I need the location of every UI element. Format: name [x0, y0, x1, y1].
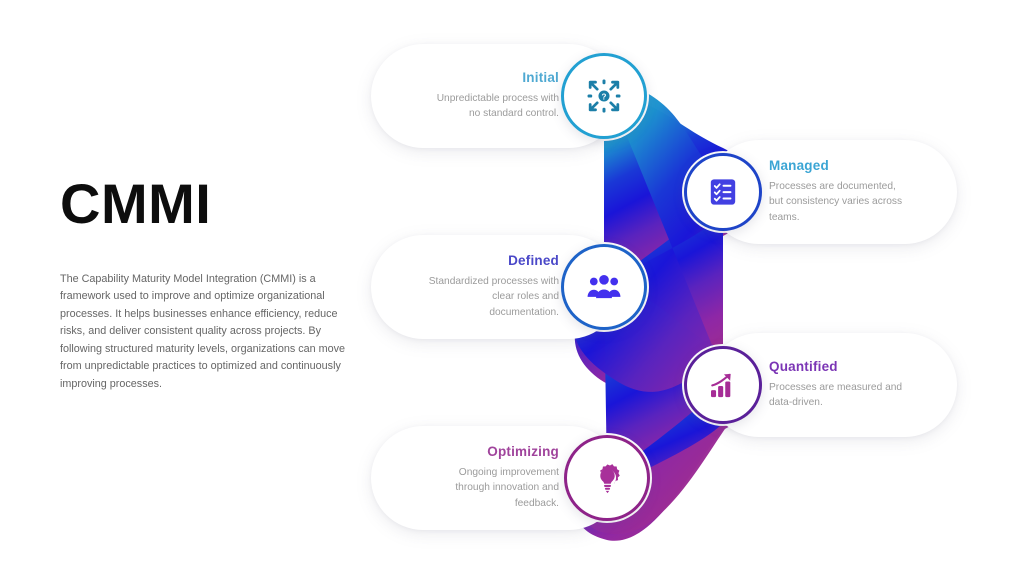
stage-description-quantified: Processes are measured and data-driven. [769, 380, 904, 411]
intro-description: The Capability Maturity Model Integratio… [60, 271, 352, 393]
stage-node-quantified[interactable] [684, 346, 762, 424]
slide-canvas: CMMI The Capability Maturity Model Integ… [0, 0, 1024, 576]
stage-description-managed: Processes are documented, but consistenc… [769, 179, 904, 225]
stage-node-optimizing[interactable] [564, 435, 650, 521]
lightbulb-gear-icon [591, 462, 624, 495]
stage-title-quantified: Quantified [769, 360, 838, 375]
stage-title-defined: Defined [508, 254, 559, 269]
stage-node-initial[interactable]: ? [561, 53, 647, 139]
stage-description-optimizing: Ongoing improvement through innovation a… [424, 465, 559, 511]
bar-chart-arrow-icon [708, 370, 738, 400]
stage-node-defined[interactable] [561, 244, 647, 330]
checklist-icon [708, 177, 738, 207]
stage-description-initial: Unpredictable process with no standard c… [424, 91, 559, 122]
stage-title-optimizing: Optimizing [487, 445, 559, 460]
cmmi-stage-diagram: Initial Unpredictable process with no st… [355, 30, 995, 550]
stage-title-managed: Managed [769, 159, 829, 174]
svg-text:?: ? [602, 92, 607, 101]
stage-node-managed[interactable] [684, 153, 762, 231]
stage-title-initial: Initial [522, 71, 559, 86]
page-title: CMMI [60, 176, 360, 232]
scatter-question-icon: ? [587, 79, 621, 113]
intro-panel: CMMI The Capability Maturity Model Integ… [60, 176, 360, 232]
stage-description-defined: Standardized processes with clear roles … [424, 274, 559, 320]
people-group-icon [587, 272, 621, 302]
